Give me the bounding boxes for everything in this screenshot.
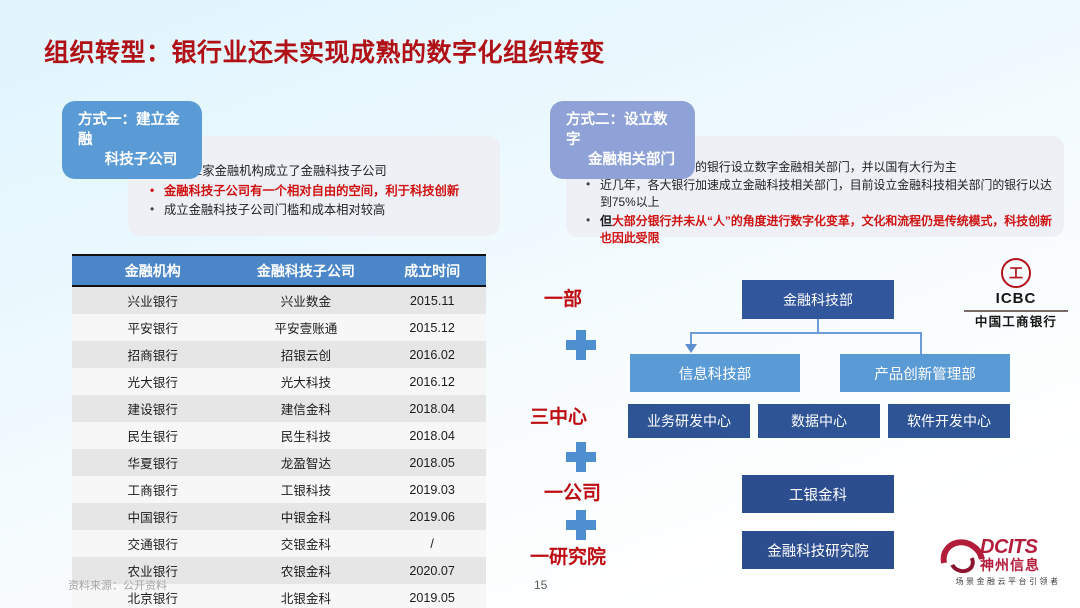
table-body: 兴业银行兴业数金2015.11平安银行平安壹账通2015.12招商银行招银云创2… — [72, 286, 486, 608]
list-item: 金融科技子公司有一个相对自由的空间，利于科技创新 — [146, 182, 486, 201]
table-cell: 建设银行 — [72, 395, 233, 422]
table-cell: 2019.06 — [378, 503, 486, 530]
left-badge-line2: 科技子公司 — [76, 150, 188, 170]
bullet-highlight-text: 大部分银行并未从“人”的角度进行数字化变革，文化和流程仍是传统模式，科技创新也因… — [600, 214, 1052, 245]
table-cell: 光大银行 — [72, 368, 233, 395]
table-cell: 民生科技 — [233, 422, 378, 449]
table-cell: 平安银行 — [72, 314, 233, 341]
table-cell: 交通银行 — [72, 530, 233, 557]
table-row: 建设银行建信金科2018.04 — [72, 395, 486, 422]
table-cell: 工商银行 — [72, 476, 233, 503]
icbc-emblem-icon: 工 — [1001, 258, 1031, 288]
table-row: 工商银行工银科技2019.03 — [72, 476, 486, 503]
table-cell: 交银金科 — [233, 530, 378, 557]
connector-arrow-icon — [685, 344, 697, 353]
table-cell: 2016.12 — [378, 368, 486, 395]
connector-drop-right — [920, 332, 922, 354]
table-cell: 龙盈智达 — [233, 449, 378, 476]
page-number: 15 — [534, 578, 547, 592]
dcits-logo: DCITS 神州信息 场景金融云平台引领者 — [938, 537, 1078, 587]
table-cell: 光大科技 — [233, 368, 378, 395]
table-cell: 2019.03 — [378, 476, 486, 503]
org-node-information-tech-department: 信息科技部 — [630, 354, 800, 392]
page-title: 组织转型：银行业还未实现成熟的数字化组织转变 — [44, 33, 605, 69]
table-cell: 华夏银行 — [72, 449, 233, 476]
org-node-business-rnd-center: 业务研发中心 — [628, 404, 750, 438]
table-row: 招商银行招银云创2016.02 — [72, 341, 486, 368]
table-cell: 招商银行 — [72, 341, 233, 368]
list-item: 成立金融科技子公司门槛和成本相对较高 — [146, 201, 486, 220]
org-tier-label-one-department: 一部 — [544, 284, 582, 311]
org-tier-label-three-centers: 三中心 — [530, 402, 587, 429]
org-node-gongyin-jinke: 工银金科 — [742, 475, 894, 513]
table-cell: 2015.12 — [378, 314, 486, 341]
icbc-emblem-glyph: 工 — [1009, 266, 1023, 280]
org-node-fintech-institute: 金融科技研究院 — [742, 531, 894, 569]
table-row: 兴业银行兴业数金2015.11 — [72, 286, 486, 314]
table-cell: 2016.02 — [378, 341, 486, 368]
column-header-institution: 金融机构 — [72, 255, 233, 286]
list-item: 但大部分银行并未从“人”的角度进行数字化变革，文化和流程仍是传统模式，科技创新也… — [582, 213, 1054, 247]
table-cell: 兴业银行 — [72, 286, 233, 314]
dcits-logo-row: DCITS 神州信息 — [938, 537, 1078, 573]
bullet-prefix: 但 — [600, 214, 612, 228]
right-panel-badge: 方式二：设立数字 金融相关部门 — [550, 101, 695, 179]
source-note: 资料来源：公开资料 — [68, 577, 167, 593]
table-cell: 招银云创 — [233, 341, 378, 368]
column-header-subsidiary: 金融科技子公司 — [233, 255, 378, 286]
table-cell: 中银金科 — [233, 503, 378, 530]
table-cell: 平安壹账通 — [233, 314, 378, 341]
table-cell: 2015.11 — [378, 286, 486, 314]
table-row: 光大银行光大科技2016.12 — [72, 368, 486, 395]
table-row: 平安银行平安壹账通2015.12 — [72, 314, 486, 341]
table-cell: 兴业数金 — [233, 286, 378, 314]
org-node-software-dev-center: 软件开发中心 — [888, 404, 1010, 438]
slide-canvas: 组织转型：银行业还未实现成熟的数字化组织转变 共有12家金融机构成立了金融科技子… — [0, 0, 1080, 608]
icbc-logo-english: ICBC — [962, 290, 1070, 307]
connector-vertical-root — [817, 319, 819, 333]
org-node-data-center: 数据中心 — [758, 404, 880, 438]
org-node-product-innovation-department: 产品创新管理部 — [840, 354, 1010, 392]
table-row: 民生银行民生科技2018.04 — [72, 422, 486, 449]
icbc-logo: 工 ICBC 中国工商银行 — [962, 258, 1070, 330]
table-cell: 2018.04 — [378, 422, 486, 449]
plus-icon — [566, 442, 596, 472]
connector-horizontal-bus — [690, 332, 922, 334]
table-cell: 2018.05 — [378, 449, 486, 476]
org-tier-label-one-institute: 一研究院 — [530, 542, 606, 569]
table-cell: 2019.05 — [378, 584, 486, 608]
table-cell: 2020.07 — [378, 557, 486, 584]
table-row: 交通银行交银金科/ — [72, 530, 486, 557]
plus-icon — [566, 510, 596, 540]
right-badge-line2: 金融相关部门 — [564, 150, 681, 170]
table-cell: 建信金科 — [233, 395, 378, 422]
icbc-logo-chinese: 中国工商银行 — [962, 315, 1070, 330]
table-header-row: 金融机构 金融科技子公司 成立时间 — [72, 255, 486, 286]
table-cell: 农银金科 — [233, 557, 378, 584]
table-cell: 民生银行 — [72, 422, 233, 449]
org-node-fintech-department: 金融科技部 — [742, 280, 894, 319]
table-row: 华夏银行龙盈智达2018.05 — [72, 449, 486, 476]
list-item: 近几年，各大银行加速成立金融科技相关部门，目前设立金融科技相关部门的银行以达到7… — [582, 177, 1054, 211]
icbc-logo-divider — [964, 310, 1068, 312]
table-cell: 中国银行 — [72, 503, 233, 530]
dcits-logo-texts: DCITS 神州信息 — [980, 537, 1040, 573]
dcits-logo-english: DCITS — [980, 537, 1040, 557]
org-tier-label-one-company: 一公司 — [544, 478, 601, 505]
dcits-swoosh-icon — [938, 537, 978, 573]
plus-icon — [566, 330, 596, 360]
table-cell: / — [378, 530, 486, 557]
fintech-subsidiary-table: 金融机构 金融科技子公司 成立时间 兴业银行兴业数金2015.11平安银行平安壹… — [72, 254, 486, 608]
left-panel-badge: 方式一：建立金融 科技子公司 — [62, 101, 202, 179]
right-badge-line1: 方式二：设立数字 — [564, 110, 681, 150]
column-header-founded: 成立时间 — [378, 255, 486, 286]
left-badge-line1: 方式一：建立金融 — [76, 110, 188, 150]
table-row: 中国银行中银金科2019.06 — [72, 503, 486, 530]
dcits-logo-chinese: 神州信息 — [980, 557, 1040, 573]
table-cell: 工银科技 — [233, 476, 378, 503]
table-cell: 2018.04 — [378, 395, 486, 422]
table-cell: 北银金科 — [233, 584, 378, 608]
